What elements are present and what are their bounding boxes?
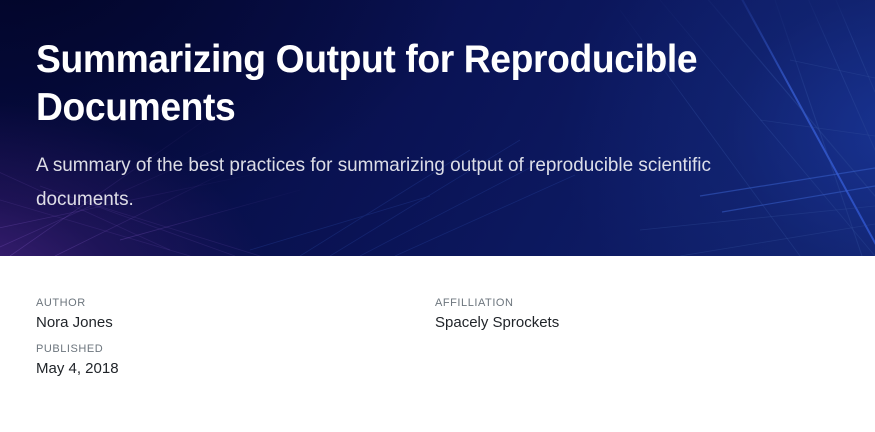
document-page: Summarizing Output for Reproducible Docu…: [0, 0, 875, 432]
document-metadata: AUTHOR Nora Jones PUBLISHED May 4, 2018 …: [0, 256, 875, 432]
title-banner: Summarizing Output for Reproducible Docu…: [0, 0, 875, 256]
affiliation-value: Spacely Sprockets: [435, 312, 815, 334]
published-label: PUBLISHED: [36, 342, 435, 357]
banner-content: Summarizing Output for Reproducible Docu…: [36, 0, 826, 216]
author-label: AUTHOR: [36, 296, 435, 311]
metadata-column-author: AUTHOR Nora Jones PUBLISHED May 4, 2018: [36, 296, 435, 380]
published-value: May 4, 2018: [36, 358, 435, 380]
page-title: Summarizing Output for Reproducible Docu…: [36, 36, 705, 132]
metadata-column-affiliation: AFFILLIATION Spacely Sprockets: [435, 296, 815, 334]
affiliation-label: AFFILLIATION: [435, 296, 815, 311]
page-subtitle: A summary of the best practices for summ…: [36, 148, 773, 216]
metadata-grid: AUTHOR Nora Jones PUBLISHED May 4, 2018 …: [36, 296, 836, 380]
author-value: Nora Jones: [36, 312, 435, 334]
